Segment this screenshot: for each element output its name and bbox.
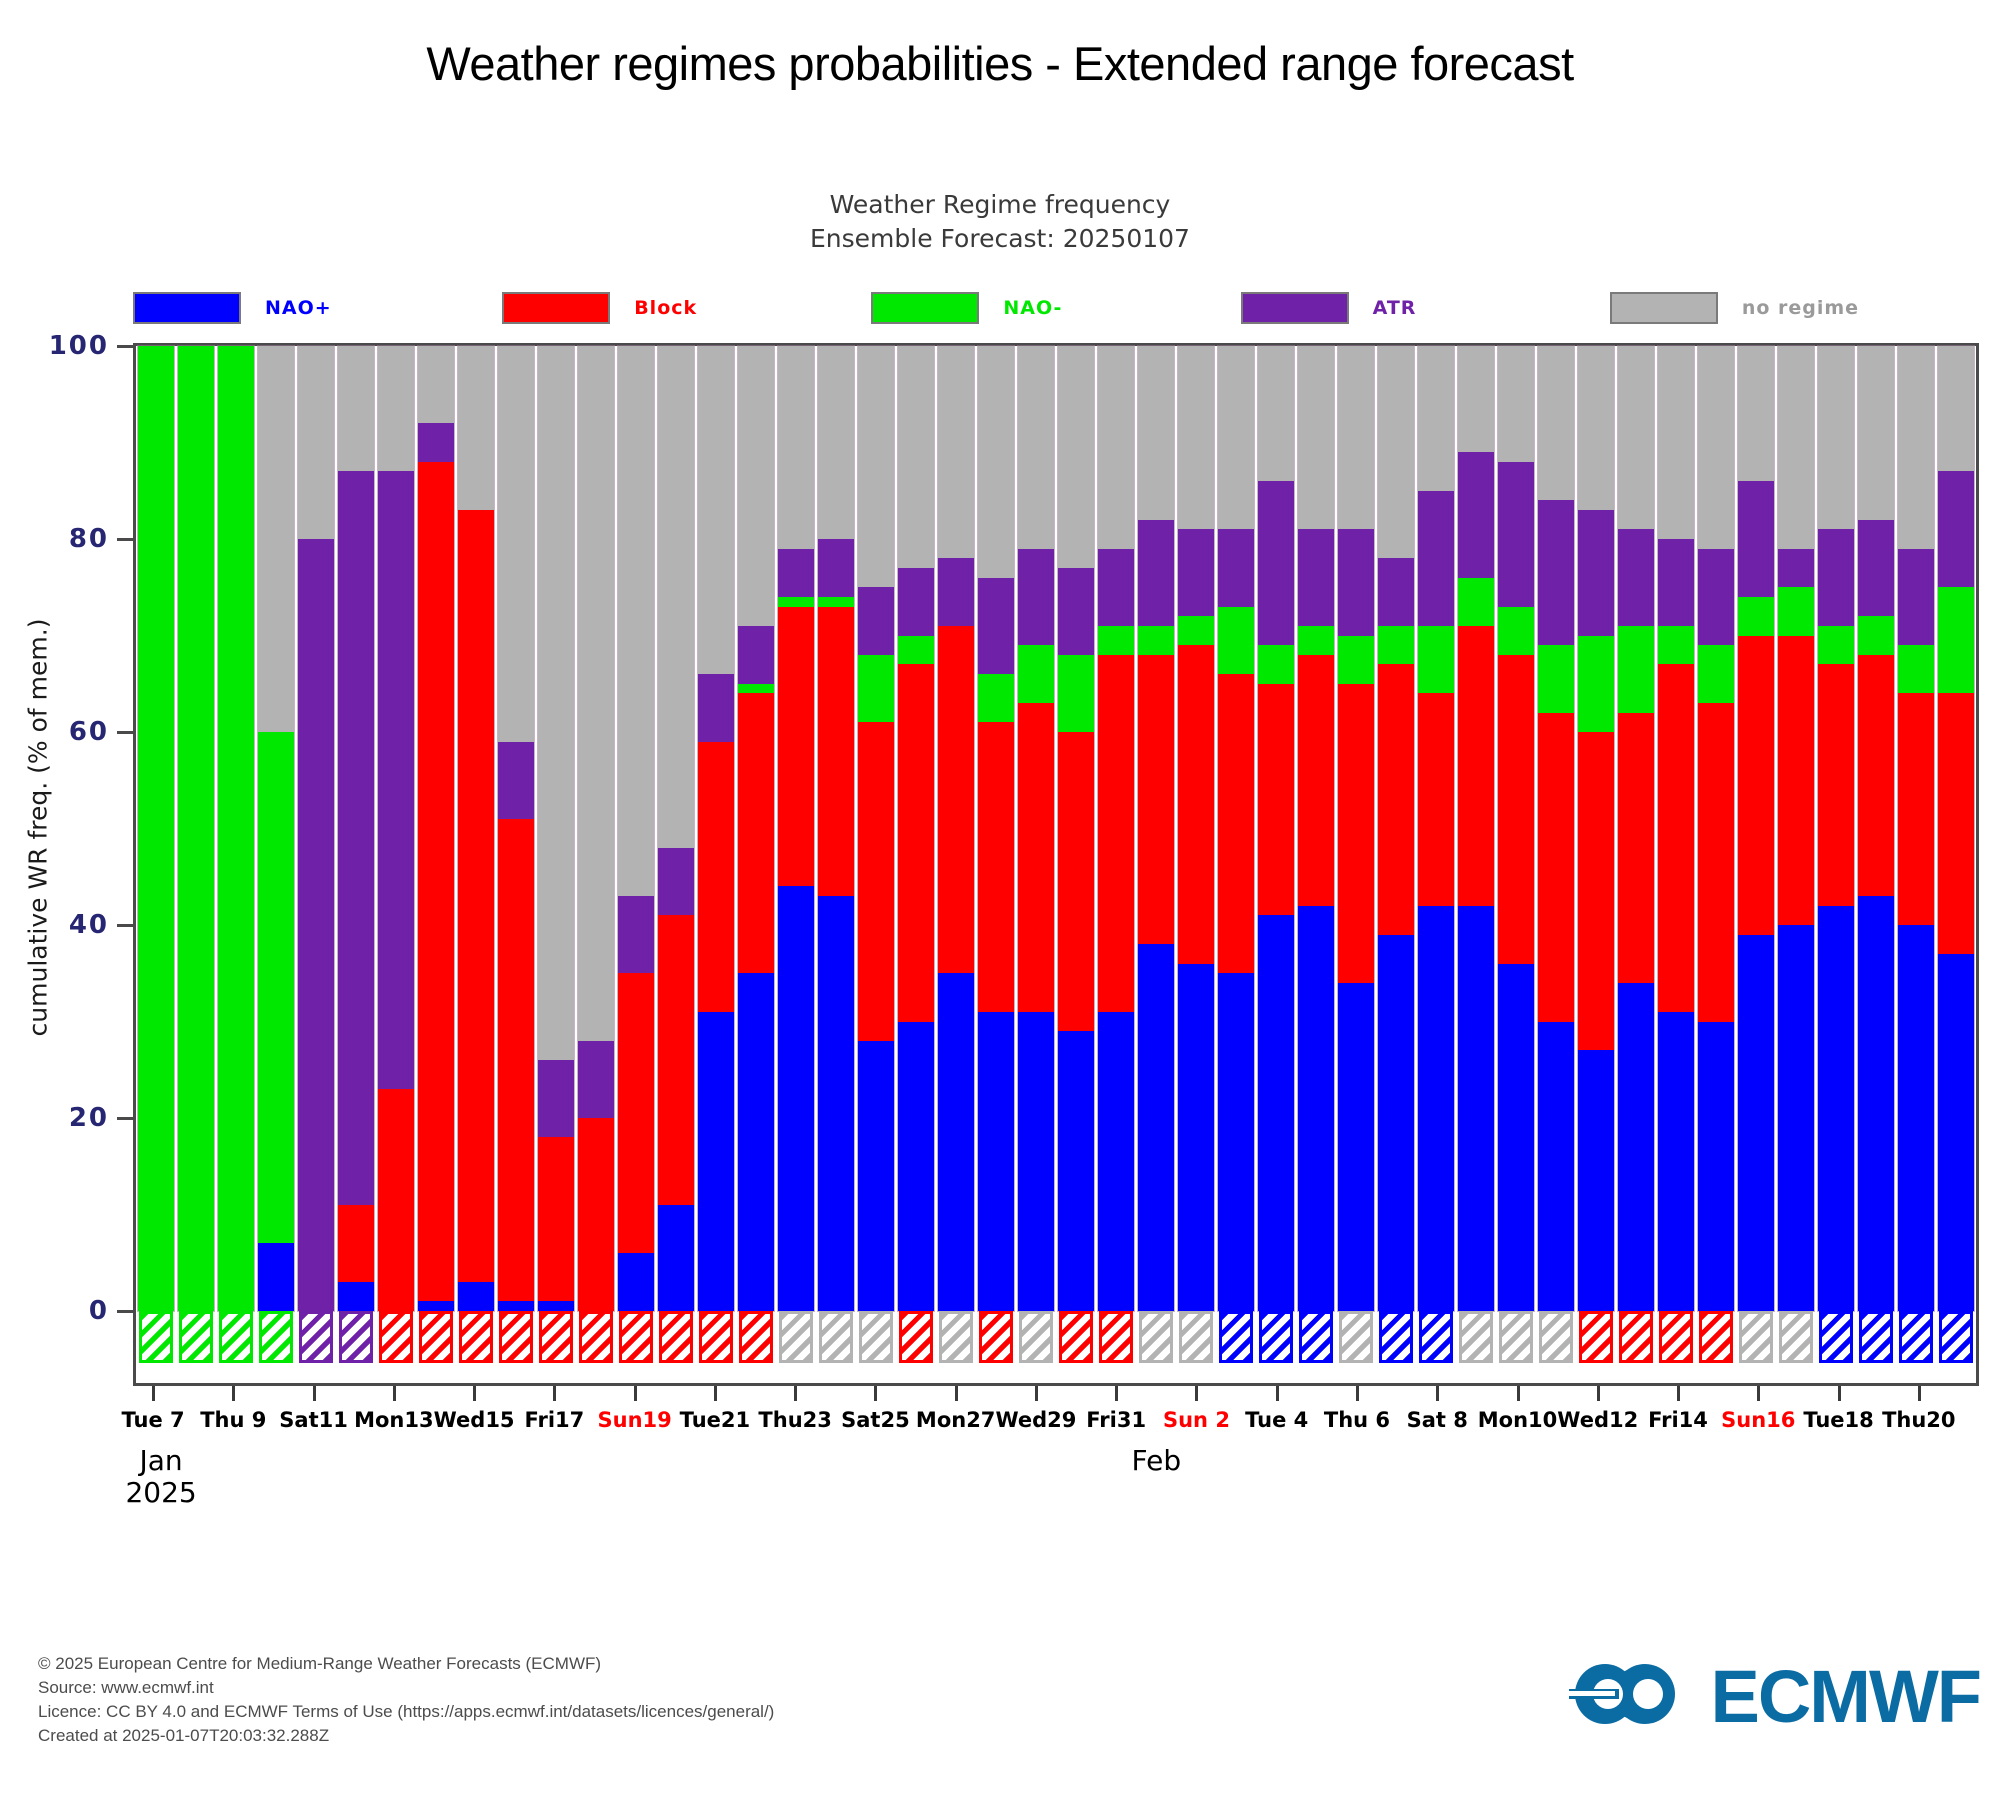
bar-column: [496, 346, 536, 1311]
bar-segment-block: [578, 1118, 614, 1311]
bar-stack-19: [898, 346, 934, 1311]
bar-segment-atr: [938, 558, 974, 626]
bar-segment-atr: [858, 587, 894, 655]
dominant-regime-block: [1699, 1311, 1733, 1363]
bar-segment-nao_m: [1498, 607, 1534, 655]
bar-segment-none: [898, 346, 934, 568]
bar-segment-none: [458, 346, 494, 510]
legend-item-none: no regime: [1610, 288, 1979, 328]
bar-stack-27: [1218, 346, 1254, 1311]
bar-segment-atr: [778, 549, 814, 597]
regime-strip-cell: [1176, 1311, 1216, 1363]
bar-segment-atr: [1338, 529, 1374, 635]
bar-stack-6: [378, 346, 414, 1311]
y-tick-label: 80: [69, 524, 109, 554]
bar-segment-block: [538, 1137, 574, 1301]
dominant-regime-block: [419, 1311, 453, 1363]
bar-segment-atr: [978, 578, 1014, 675]
dominant-regime-nao_m: [179, 1311, 213, 1363]
footer-line: Licence: CC BY 4.0 and ECMWF Terms of Us…: [38, 1700, 774, 1724]
bar-column: [1376, 346, 1416, 1311]
bar-segment-nao_m: [1338, 636, 1374, 684]
bar-stack-2: [218, 346, 254, 1311]
bar-segment-atr: [1938, 471, 1974, 587]
regime-strip-cell: [1056, 1311, 1096, 1363]
bar-segment-atr: [1818, 529, 1854, 626]
bar-stack-45: [1938, 346, 1974, 1311]
bar-segment-none: [978, 346, 1014, 578]
bar-column: [976, 346, 1016, 1311]
x-tick-label: Mon13: [354, 1408, 434, 1432]
dominant-regime-none: [1019, 1311, 1053, 1363]
dominant-regime-block: [499, 1311, 533, 1363]
bar-stack-30: [1338, 346, 1374, 1311]
regime-strip-cell: [1776, 1311, 1816, 1363]
x-tick-mark: [1436, 1386, 1439, 1401]
bar-segment-nao_p: [1698, 1022, 1734, 1312]
bar-stack-1: [178, 346, 214, 1311]
chart-subtitle-line-1: Weather Regime frequency: [0, 188, 2000, 222]
bar-segment-none: [258, 346, 294, 732]
bar-column: [456, 346, 496, 1311]
regime-strip-cell: [696, 1311, 736, 1363]
x-tick-mark: [714, 1386, 717, 1401]
footer-line: Created at 2025-01-07T20:03:32.288Z: [38, 1724, 774, 1748]
x-tick-mark: [313, 1386, 316, 1401]
bar-segment-nao_m: [1898, 645, 1934, 693]
regime-strip-cell: [416, 1311, 456, 1363]
x-tick-label: Sun 2: [1163, 1408, 1230, 1432]
bar-segment-nao_m: [1618, 626, 1654, 713]
bar-segment-nao_m: [1138, 626, 1174, 655]
dominant-regime-nao_m: [139, 1311, 173, 1363]
bar-segment-atr: [1898, 549, 1934, 646]
bar-segment-none: [778, 346, 814, 549]
y-tick-label: 40: [69, 910, 109, 940]
bar-column: [936, 346, 976, 1311]
bar-segment-nao_p: [1818, 906, 1854, 1311]
bar-stack-34: [1498, 346, 1534, 1311]
bar-segment-atr: [738, 626, 774, 684]
y-tick-label: 100: [49, 331, 109, 361]
regime-strip-cell: [1256, 1311, 1296, 1363]
bar-column: [1896, 346, 1936, 1311]
legend-item-atr: ATR: [1241, 288, 1610, 328]
bar-column: [656, 346, 696, 1311]
bar-segment-nao_p: [1658, 1012, 1694, 1311]
regime-strip-cell: [456, 1311, 496, 1363]
dominant-regime-block: [459, 1311, 493, 1363]
x-tick-label: Sat11: [279, 1408, 348, 1432]
bar-stack-25: [1138, 346, 1174, 1311]
bar-segment-atr: [378, 471, 414, 1089]
bar-stack-8: [458, 346, 494, 1311]
bar-segment-atr: [538, 1060, 574, 1137]
bar-segment-nao_p: [258, 1243, 294, 1311]
bar-segment-atr: [498, 742, 534, 819]
bar-segment-none: [938, 346, 974, 558]
bar-segment-nao_p: [938, 973, 974, 1311]
legend-swatch-block: [502, 292, 610, 324]
y-tick-label: 0: [89, 1296, 109, 1326]
bar-segment-none: [1378, 346, 1414, 558]
bar-segment-none: [1898, 346, 1934, 549]
bar-stack-22: [1018, 346, 1054, 1311]
bar-stack-11: [578, 346, 614, 1311]
legend-swatch-atr: [1241, 292, 1349, 324]
bar-column: [1736, 346, 1776, 1311]
regime-strip-cell: [1936, 1311, 1976, 1363]
bar-segment-none: [1298, 346, 1334, 529]
bar-stack-10: [538, 346, 574, 1311]
bar-column: [1296, 346, 1336, 1311]
bar-column: [776, 346, 816, 1311]
bar-stack-24: [1098, 346, 1134, 1311]
bar-segment-atr: [1658, 539, 1694, 626]
bar-stack-13: [658, 346, 694, 1311]
bar-segment-nao_m: [1578, 636, 1614, 733]
bar-segment-nao_m: [1098, 626, 1134, 655]
y-axis-title: cumulative WR freq. (% of mem.): [24, 398, 53, 1258]
bar-column: [896, 346, 936, 1311]
bar-segment-nao_p: [1538, 1022, 1574, 1312]
regime-strip-cell: [1456, 1311, 1496, 1363]
dominant-regime-none: [1459, 1311, 1493, 1363]
bar-segment-nao_p: [978, 1012, 1014, 1311]
bar-column: [1136, 346, 1176, 1311]
bar-segment-none: [1458, 346, 1494, 452]
bar-segment-nao_p: [1498, 964, 1534, 1311]
bar-segment-none: [1258, 346, 1294, 481]
chart-subtitle: Weather Regime frequency Ensemble Foreca…: [0, 188, 2000, 256]
dominant-regime-nao_p: [1819, 1311, 1853, 1363]
bar-segment-none: [1178, 346, 1214, 529]
bar-segment-nao_p: [1018, 1012, 1054, 1311]
bar-segment-nao_m: [1658, 626, 1694, 665]
bar-segment-none: [858, 346, 894, 587]
bar-segment-none: [538, 346, 574, 1060]
bar-column: [1696, 346, 1736, 1311]
regime-strip-cell: [736, 1311, 776, 1363]
x-tick-label: Fri17: [524, 1408, 584, 1432]
bar-segment-atr: [578, 1041, 614, 1118]
dominant-regime-nao_p: [1939, 1311, 1973, 1363]
bar-segment-nao_p: [418, 1301, 454, 1311]
bar-segment-atr: [1618, 529, 1654, 626]
bar-column: [1096, 346, 1136, 1311]
dominant-regime-nao_p: [1419, 1311, 1453, 1363]
x-tick-label: Wed15: [434, 1408, 515, 1432]
bar-segment-nao_p: [1098, 1012, 1134, 1311]
bar-segment-none: [338, 346, 374, 471]
bar-segment-none: [1138, 346, 1174, 520]
bar-column: [336, 346, 376, 1311]
bar-segment-nao_m: [1258, 645, 1294, 684]
bar-segment-block: [1538, 713, 1574, 1022]
regime-strip-cell: [936, 1311, 976, 1363]
bar-column: [536, 346, 576, 1311]
bar-segment-block: [618, 973, 654, 1253]
x-tick-label: Tue 4: [1245, 1408, 1308, 1432]
bar-segment-block: [698, 742, 734, 1012]
bar-stack-7: [418, 346, 454, 1311]
dominant-regime-atr: [299, 1311, 333, 1363]
bar-column: [376, 346, 416, 1311]
bar-stack-38: [1658, 346, 1694, 1311]
bar-segment-atr: [1578, 510, 1614, 635]
regime-strip-cell: [816, 1311, 856, 1363]
regime-strip-cell: [296, 1311, 336, 1363]
x-tick-label: Fri31: [1086, 1408, 1146, 1432]
bar-stack-28: [1258, 346, 1294, 1311]
bar-column: [296, 346, 336, 1311]
bar-stack-14: [698, 346, 734, 1311]
dominant-regime-none: [1139, 1311, 1173, 1363]
bar-segment-nao_p: [1138, 944, 1174, 1311]
bar-segment-block: [1458, 626, 1494, 906]
bar-column: [1656, 346, 1696, 1311]
dominant-regime-none: [1339, 1311, 1373, 1363]
bar-stack-17: [818, 346, 854, 1311]
x-tick-mark: [794, 1386, 797, 1401]
bar-column: [1176, 346, 1216, 1311]
dominant-regime-nao_m: [219, 1311, 253, 1363]
bar-segment-block: [1738, 636, 1774, 935]
bar-segment-none: [1818, 346, 1854, 529]
x-tick-mark: [1195, 1386, 1198, 1401]
bar-stack-12: [618, 346, 654, 1311]
footer-line: Source: www.ecmwf.int: [38, 1676, 774, 1700]
regime-strip-cell: [1536, 1311, 1576, 1363]
bar-column: [1216, 346, 1256, 1311]
bar-segment-nao_m: [1538, 645, 1574, 713]
footer-line: © 2025 European Centre for Medium-Range …: [38, 1652, 774, 1676]
regime-strip-cell: [496, 1311, 536, 1363]
bar-segment-nao_m: [1378, 626, 1414, 665]
bar-segment-nao_m: [138, 346, 174, 1311]
dominant-regime-block: [1099, 1311, 1133, 1363]
bar-segment-nao_m: [898, 636, 934, 665]
bar-column: [1496, 346, 1536, 1311]
bar-segment-block: [1578, 732, 1614, 1050]
y-axis: cumulative WR freq. (% of mem.) 02040608…: [0, 343, 133, 1386]
bar-segment-block: [1378, 664, 1414, 934]
bar-segment-atr: [418, 423, 454, 462]
regime-strip-cell: [1856, 1311, 1896, 1363]
chart-legend: NAO+BlockNAO-ATRno regime: [133, 288, 1979, 328]
legend-label-atr: ATR: [1373, 297, 1417, 319]
bar-segment-nao_p: [1458, 906, 1494, 1311]
regime-strip-cell: [1816, 1311, 1856, 1363]
bar-segment-nao_m: [258, 732, 294, 1243]
bar-segment-atr: [658, 848, 694, 916]
bar-column: [1056, 346, 1096, 1311]
bar-column: [1936, 346, 1976, 1311]
bar-segment-nao_p: [698, 1012, 734, 1311]
bar-segment-nao_m: [1298, 626, 1334, 655]
bar-segment-none: [1498, 346, 1534, 462]
x-tick-label: Sun19: [598, 1408, 672, 1432]
bar-segment-none: [298, 346, 334, 539]
bar-segment-nao_p: [1858, 896, 1894, 1311]
dominant-regime-strip: [136, 1311, 1976, 1363]
x-tick-label: Tue18: [1803, 1408, 1873, 1432]
bar-segment-block: [1018, 703, 1054, 1012]
bar-segment-none: [1698, 346, 1734, 549]
bar-segment-nao_p: [1058, 1031, 1094, 1311]
bar-segment-none: [1578, 346, 1614, 510]
dominant-regime-block: [539, 1311, 573, 1363]
bar-stack-20: [938, 346, 974, 1311]
bar-column: [136, 346, 176, 1311]
bar-column: [1336, 346, 1376, 1311]
bar-segment-nao_p: [618, 1253, 654, 1311]
bar-stack-32: [1418, 346, 1454, 1311]
bar-segment-nao_m: [818, 597, 854, 607]
bar-segment-nao_m: [1938, 587, 1974, 693]
dominant-regime-block: [1619, 1311, 1653, 1363]
bar-segment-atr: [1458, 452, 1494, 577]
bar-stack-31: [1378, 346, 1414, 1311]
bar-segment-nao_m: [1458, 578, 1494, 626]
bar-segment-block: [1938, 693, 1974, 954]
dominant-regime-nao_p: [1859, 1311, 1893, 1363]
bar-stack-5: [338, 346, 374, 1311]
regime-strip-cell: [896, 1311, 936, 1363]
bar-segment-atr: [1698, 549, 1734, 646]
x-tick-mark: [1838, 1386, 1841, 1401]
bar-stack-23: [1058, 346, 1094, 1311]
regime-strip-cell: [1896, 1311, 1936, 1363]
regime-strip-cell: [1096, 1311, 1136, 1363]
dominant-regime-none: [1499, 1311, 1533, 1363]
bar-segment-block: [658, 915, 694, 1205]
ecmwf-logo-mark-icon: [1565, 1654, 1697, 1739]
x-tick-label: Sun16: [1721, 1408, 1795, 1432]
x-axis-period-label: Jan: [139, 1444, 182, 1477]
bar-stack-35: [1538, 346, 1574, 1311]
regime-strip-cell: [1296, 1311, 1336, 1363]
y-tick-mark: [117, 538, 133, 541]
bar-segment-nao_p: [538, 1301, 574, 1311]
dominant-regime-block: [659, 1311, 693, 1363]
bar-column: [616, 346, 656, 1311]
bar-segment-none: [1738, 346, 1774, 481]
regime-strip-cell: [856, 1311, 896, 1363]
bar-column: [1016, 346, 1056, 1311]
bar-segment-atr: [1378, 558, 1414, 626]
x-tick-mark: [874, 1386, 877, 1401]
bar-segment-atr: [1538, 500, 1574, 645]
x-tick-label: Wed12: [1557, 1408, 1638, 1432]
bar-segment-none: [818, 346, 854, 539]
dominant-regime-block: [979, 1311, 1013, 1363]
regime-strip-cell: [1496, 1311, 1536, 1363]
bar-segment-block: [1418, 693, 1454, 905]
bar-segment-atr: [1178, 529, 1214, 616]
y-tick-mark: [117, 731, 133, 734]
y-tick-mark: [117, 1310, 133, 1313]
y-tick-mark: [117, 345, 133, 348]
bar-segment-atr: [818, 539, 854, 597]
bar-stack-29: [1298, 346, 1334, 1311]
dominant-regime-nao_p: [1219, 1311, 1253, 1363]
x-tick-label: Wed29: [995, 1408, 1076, 1432]
legend-swatch-nao_p: [133, 292, 241, 324]
regime-strip-cell: [256, 1311, 296, 1363]
dominant-regime-none: [1179, 1311, 1213, 1363]
bar-segment-none: [738, 346, 774, 626]
bar-segment-nao_p: [338, 1282, 374, 1311]
bar-column: [1616, 346, 1656, 1311]
bar-stack-3: [258, 346, 294, 1311]
regime-strip-cell: [336, 1311, 376, 1363]
bar-segment-none: [698, 346, 734, 674]
x-tick-mark: [152, 1386, 155, 1401]
regime-strip-cell: [216, 1311, 256, 1363]
bar-segment-none: [1058, 346, 1094, 568]
x-tick-label: Thu 6: [1324, 1408, 1390, 1432]
bar-segment-none: [1858, 346, 1894, 520]
y-tick-mark: [117, 924, 133, 927]
bar-segment-atr: [1218, 529, 1254, 606]
bar-column: [856, 346, 896, 1311]
x-axis: Tue 7Thu 9Sat11Mon13Wed15Fri17Sun19Tue21…: [133, 1386, 1979, 1506]
bar-segment-block: [1138, 655, 1174, 945]
regime-strip-cell: [576, 1311, 616, 1363]
dominant-regime-nao_m: [259, 1311, 293, 1363]
x-tick-mark: [1035, 1386, 1038, 1401]
dominant-regime-block: [379, 1311, 413, 1363]
dominant-regime-block: [899, 1311, 933, 1363]
bar-segment-nao_p: [458, 1282, 494, 1311]
bar-segment-none: [418, 346, 454, 423]
bar-segment-atr: [1018, 549, 1054, 646]
bar-stack-18: [858, 346, 894, 1311]
bar-segment-none: [1098, 346, 1134, 549]
dominant-regime-nao_p: [1379, 1311, 1413, 1363]
x-tick-mark: [553, 1386, 556, 1401]
bar-segment-nao_p: [1178, 964, 1214, 1311]
x-tick-mark: [1757, 1386, 1760, 1401]
bar-segment-block: [378, 1089, 414, 1311]
x-tick-mark: [1597, 1386, 1600, 1401]
bar-segment-nao_m: [778, 597, 814, 607]
bar-segment-nao_m: [1698, 645, 1734, 703]
bar-segment-atr: [1738, 481, 1774, 597]
bar-segment-block: [1298, 655, 1334, 906]
bar-segment-block: [338, 1205, 374, 1282]
bar-segment-nao_m: [1058, 655, 1094, 732]
dominant-regime-none: [779, 1311, 813, 1363]
bar-segment-nao_m: [1418, 626, 1454, 694]
regime-strip-cell: [136, 1311, 176, 1363]
bar-segment-none: [498, 346, 534, 742]
bar-segment-atr: [338, 471, 374, 1204]
bar-segment-nao_p: [1298, 906, 1334, 1311]
legend-label-block: Block: [634, 297, 697, 319]
bar-stacks: [136, 346, 1976, 1311]
x-tick-label: Fri14: [1648, 1408, 1708, 1432]
x-tick-mark: [1276, 1386, 1279, 1401]
bar-segment-nao_p: [818, 896, 854, 1311]
bar-segment-block: [1618, 713, 1654, 983]
y-tick-label: 60: [69, 717, 109, 747]
bar-segment-nao_m: [218, 346, 254, 1311]
bar-segment-none: [1338, 346, 1374, 529]
bar-segment-nao_m: [1858, 616, 1894, 655]
bar-segment-none: [1778, 346, 1814, 549]
